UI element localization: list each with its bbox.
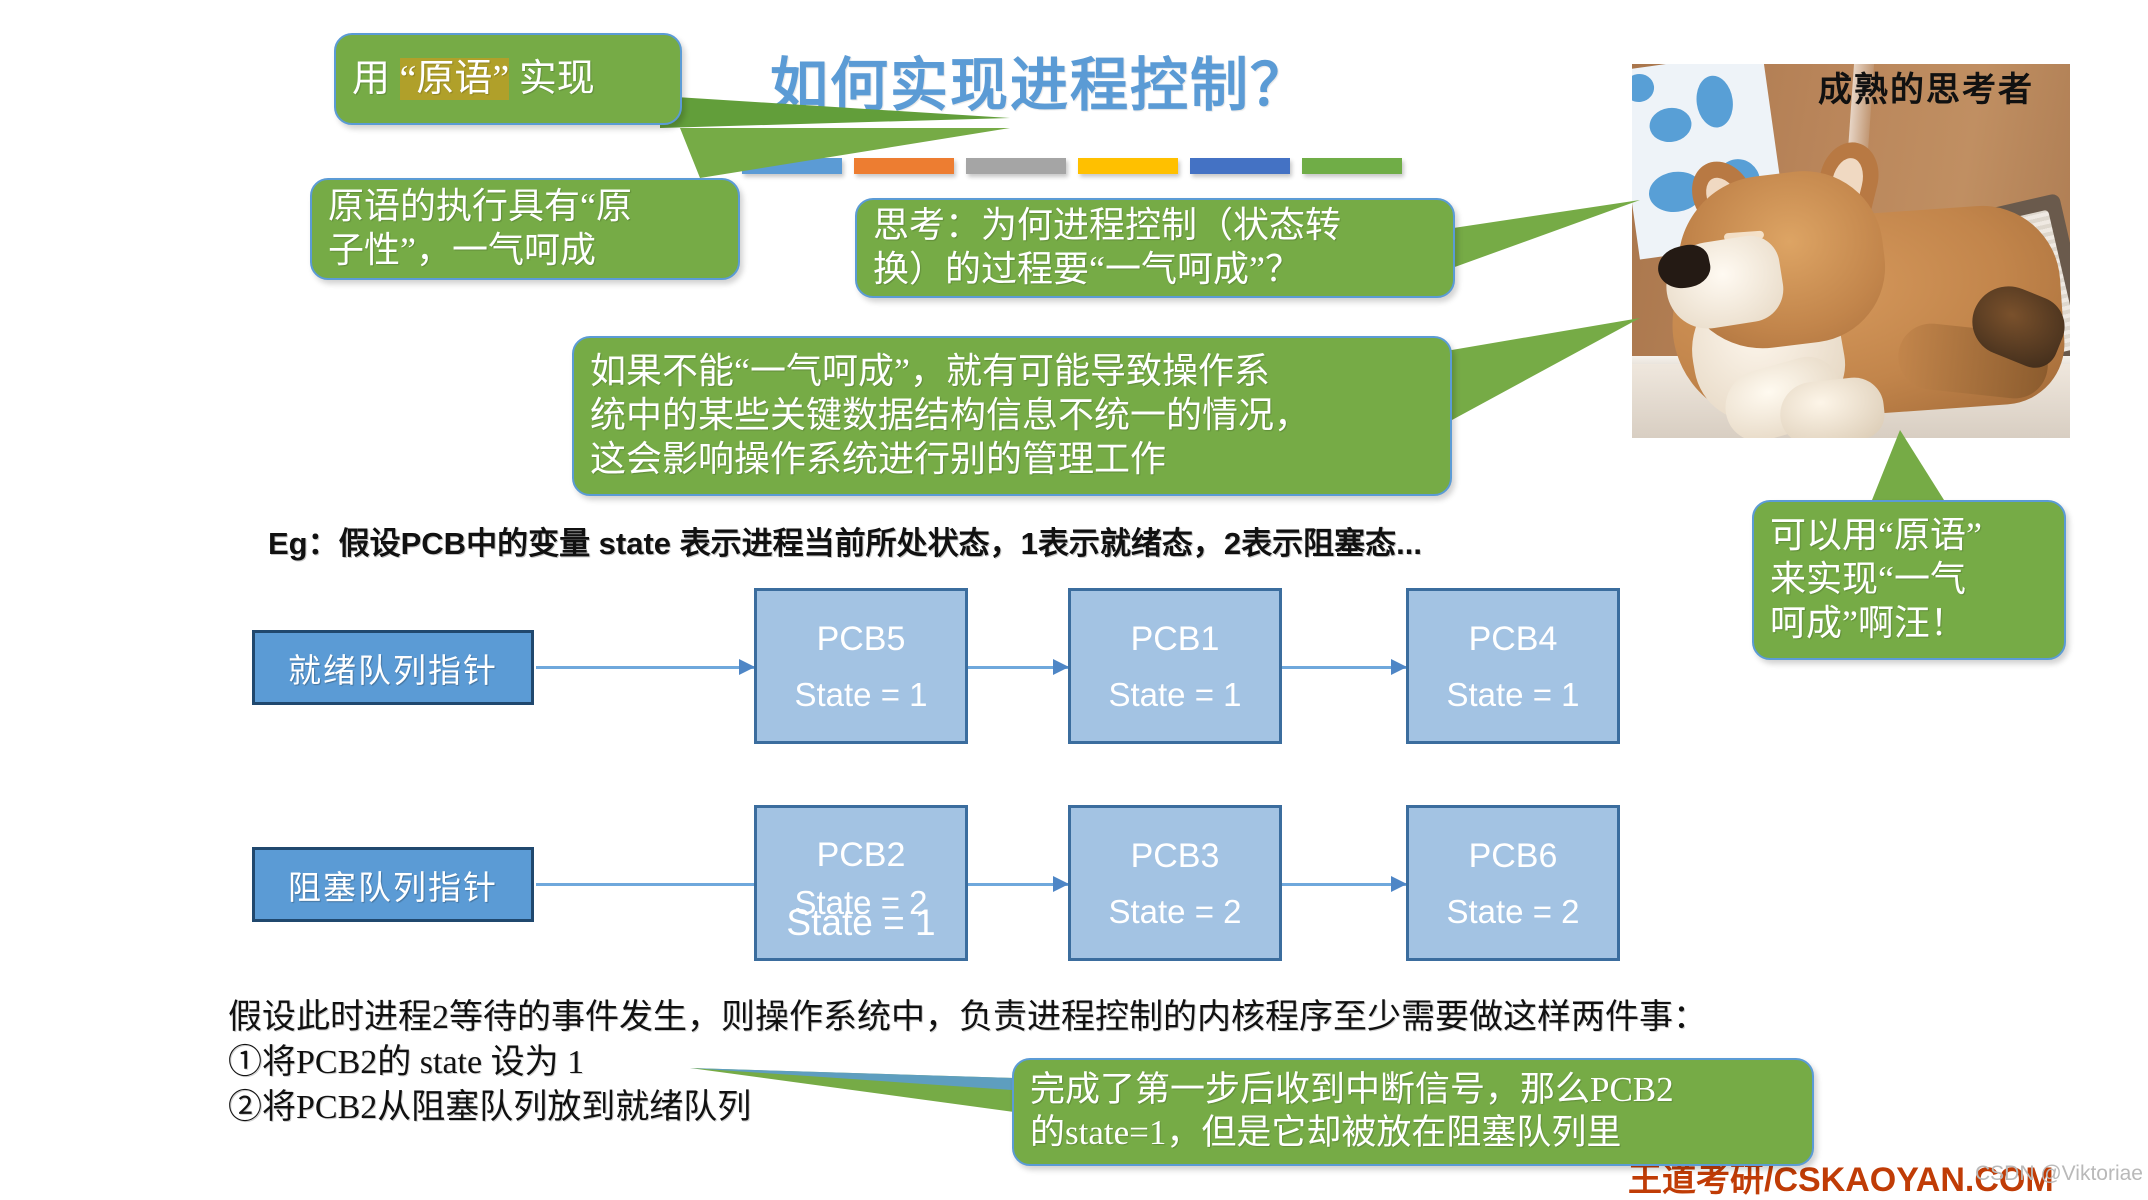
pcb5-name: PCB5 <box>817 622 906 656</box>
callout-primitive[interactable]: 用 “原语” 实现 <box>334 33 682 125</box>
pcb3-name: PCB3 <box>1131 839 1220 873</box>
arrow-pcb2-to-pcb3 <box>968 883 1068 886</box>
watermark-csdn: CSDN @Viktoriae <box>1975 1162 2143 1186</box>
pcb2-name: PCB2 <box>817 838 906 872</box>
callout-dog-says-text: 可以用“原语” 来实现“一气 呵成”啊汪！ <box>1754 514 2064 646</box>
pcb-node-pcb1[interactable]: PCB1 State = 1 <box>1068 588 1282 744</box>
callout-primitive-text: 用 “原语” 实现 <box>336 56 680 102</box>
color-bar-3 <box>966 158 1066 174</box>
pcb-node-pcb3[interactable]: PCB3 State = 2 <box>1068 805 1282 961</box>
ready-queue-pointer[interactable]: 就绪队列指针 <box>252 630 534 705</box>
pcb3-state: State = 2 <box>1108 895 1241 928</box>
blocked-queue-pointer[interactable]: 阻塞队列指针 <box>252 847 534 922</box>
ready-queue-pointer-label: 就绪队列指针 <box>288 644 498 692</box>
callout-atomicity[interactable]: 原语的执行具有“原 子性”，一气呵成 <box>310 178 740 280</box>
pcb6-state: State = 2 <box>1446 895 1579 928</box>
pcb-node-pcb6[interactable]: PCB6 State = 2 <box>1406 805 1620 961</box>
callout-interrupt[interactable]: 完成了第一步后收到中断信号，那么PCB2 的state=1，但是它却被放在阻塞队… <box>1012 1058 1814 1166</box>
callout-interrupt-text: 完成了第一步后收到中断信号，那么PCB2 的state=1，但是它却被放在阻塞队… <box>1014 1069 1812 1154</box>
callout-consequence-text: 如果不能“一气呵成”，就有可能导致操作系 统中的某些关键数据结构信息不统一的情况… <box>574 350 1450 482</box>
pcb4-state: State = 1 <box>1446 678 1579 711</box>
arrow-pcb5-to-pcb1 <box>968 666 1068 669</box>
pcb1-state: State = 1 <box>1108 678 1241 711</box>
pcb4-name: PCB4 <box>1469 622 1558 656</box>
arrow-pcb1-to-pcb4 <box>1282 666 1406 669</box>
arrow-pcb3-to-pcb6 <box>1282 883 1406 886</box>
color-bar-6 <box>1302 158 1402 174</box>
color-bar-1 <box>742 158 842 174</box>
color-bar-4 <box>1078 158 1178 174</box>
callout-question[interactable]: 思考：为何进程控制（状态转 换）的过程要“一气呵成”？ <box>855 198 1455 298</box>
thinker-dog-photo <box>1632 64 2070 438</box>
line-blocked-ptr-to-pcb2 <box>536 883 754 886</box>
example-line: Eg：假设PCB中的变量 state 表示进程当前所处状态，1表示就绪态，2表示… <box>268 518 1422 563</box>
callout-atomicity-text: 原语的执行具有“原 子性”，一气呵成 <box>312 185 738 273</box>
photo-label: 成熟的思考者 <box>1818 62 2034 111</box>
pcb5-state: State = 1 <box>794 678 927 711</box>
callout-question-text: 思考：为何进程控制（状态转 换）的过程要“一气呵成”？ <box>857 204 1453 292</box>
callout-dog-says[interactable]: 可以用“原语” 来实现“一气 呵成”啊汪！ <box>1752 500 2066 660</box>
pcb2-state-overlay: State = 1 <box>757 902 965 944</box>
callout-consequence[interactable]: 如果不能“一气呵成”，就有可能导致操作系 统中的某些关键数据结构信息不统一的情况… <box>572 336 1452 496</box>
color-bar-2 <box>854 158 954 174</box>
slide-canvas: 如何实现进程控制？ <box>0 0 2148 1200</box>
page-title: 如何实现进程控制？ <box>770 38 1310 122</box>
pcb-node-pcb2[interactable]: PCB2 State = 2 State = 1 <box>754 805 968 961</box>
arrow-ready-ptr-to-pcb5 <box>536 666 754 669</box>
pcb-node-pcb5[interactable]: PCB5 State = 1 <box>754 588 968 744</box>
pcb-node-pcb4[interactable]: PCB4 State = 1 <box>1406 588 1620 744</box>
blocked-queue-pointer-label: 阻塞队列指针 <box>288 861 498 909</box>
pcb1-name: PCB1 <box>1131 622 1220 656</box>
pcb2-state-group: State = 2 State = 1 <box>757 894 965 928</box>
pcb6-name: PCB6 <box>1469 839 1558 873</box>
color-bar-strip <box>742 158 1402 174</box>
color-bar-5 <box>1190 158 1290 174</box>
